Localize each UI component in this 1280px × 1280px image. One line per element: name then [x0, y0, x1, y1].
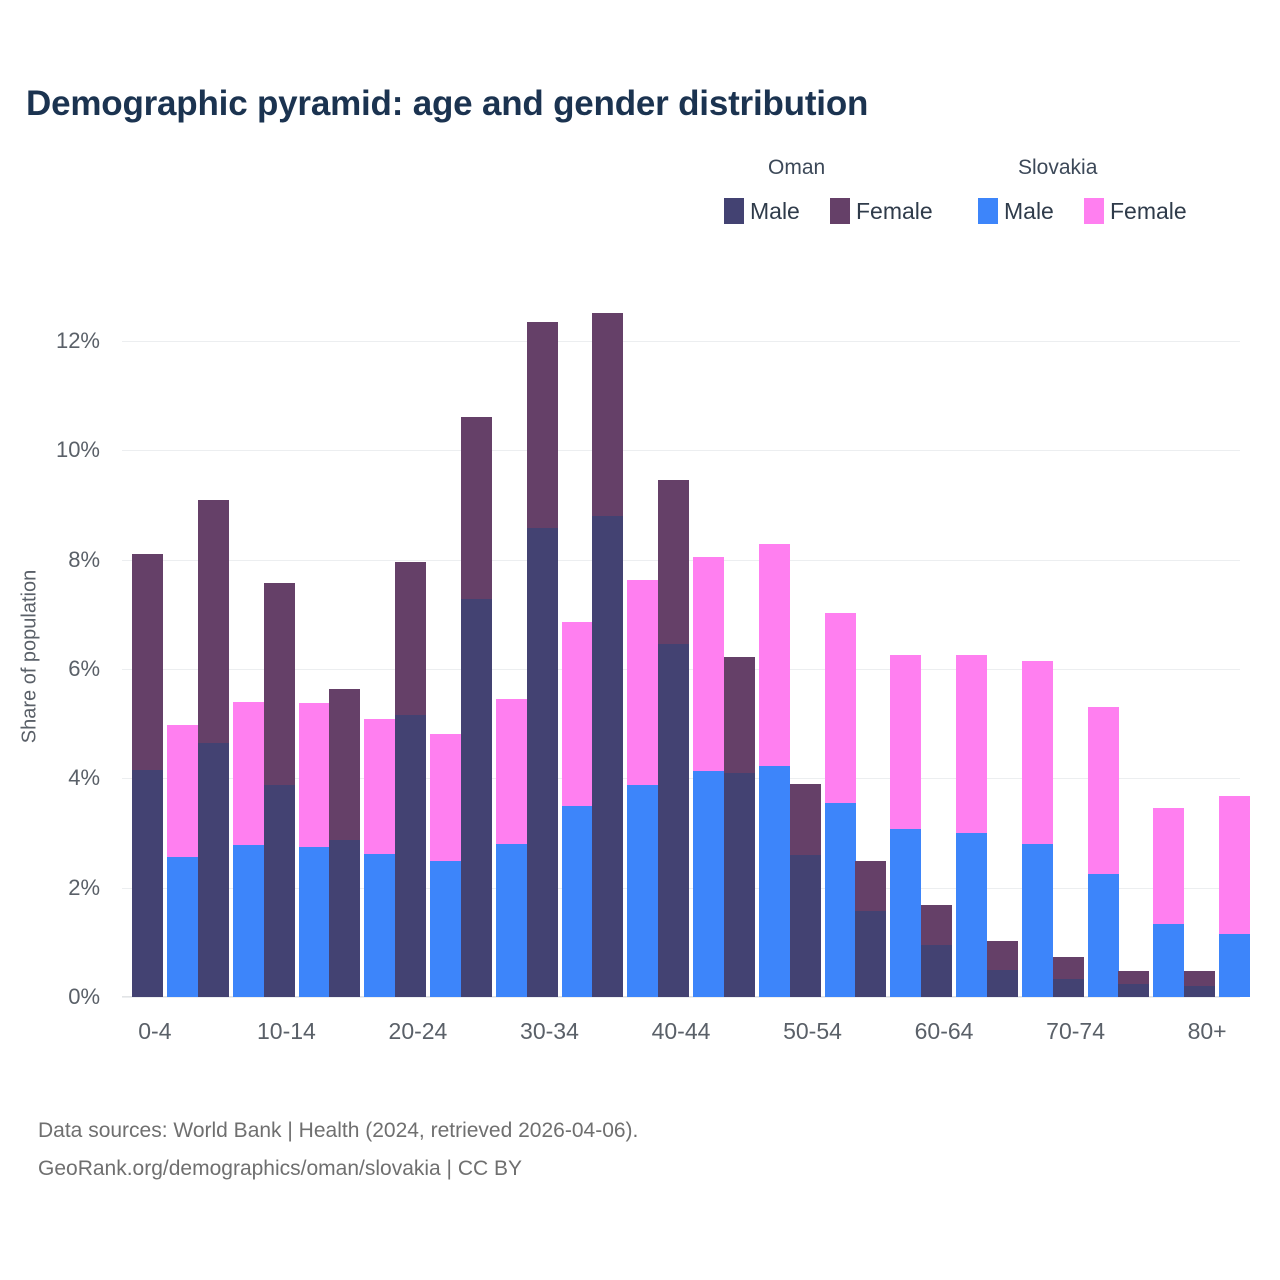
chart-plot: Share of population 0%2%4%6%8%10%12% 0-4…: [0, 0, 1280, 1280]
bar-segment-oman-female[interactable]: [1184, 971, 1215, 986]
bar-oman[interactable]: [461, 417, 492, 997]
bar-group: [845, 297, 911, 997]
bar-group: [582, 297, 648, 997]
bar-group: [780, 297, 846, 997]
x-axis-tick-label: 40-44: [652, 1018, 711, 1045]
bar-oman[interactable]: [855, 861, 886, 997]
bar-group: [911, 297, 977, 997]
x-axis-tick-label: 70-74: [1046, 1018, 1105, 1045]
bar-oman[interactable]: [987, 941, 1018, 997]
bar-segment-oman-female[interactable]: [921, 905, 952, 945]
bar-group: [1174, 297, 1240, 997]
bar-group: [1043, 297, 1109, 997]
bar-group: [714, 297, 780, 997]
bar-segment-oman-male[interactable]: [592, 516, 623, 997]
bar-group: [451, 297, 517, 997]
bar-segment-oman-male[interactable]: [855, 911, 886, 997]
bar-oman[interactable]: [658, 480, 689, 997]
bar-segment-oman-female[interactable]: [527, 322, 558, 528]
bar-oman[interactable]: [790, 784, 821, 997]
y-axis-tick-label: 6%: [68, 656, 100, 682]
bar-oman[interactable]: [1184, 971, 1215, 997]
bar-group: [385, 297, 451, 997]
bar-segment-oman-male[interactable]: [724, 773, 755, 997]
bar-segment-oman-male[interactable]: [921, 945, 952, 997]
bar-oman[interactable]: [1053, 957, 1084, 997]
bar-segment-oman-male[interactable]: [461, 599, 492, 997]
bar-segment-oman-male[interactable]: [198, 743, 229, 997]
bar-segment-oman-female[interactable]: [658, 480, 689, 644]
bar-segment-oman-female[interactable]: [329, 689, 360, 839]
bar-segment-oman-male[interactable]: [790, 855, 821, 997]
bar-segment-oman-female[interactable]: [592, 313, 623, 515]
footer-line-sources: Data sources: World Bank | Health (2024,…: [38, 1112, 638, 1150]
bar-oman[interactable]: [592, 313, 623, 997]
bar-segment-oman-male[interactable]: [1053, 979, 1084, 997]
bar-segment-oman-female[interactable]: [264, 583, 295, 785]
x-axis-tick-label: 60-64: [915, 1018, 974, 1045]
y-axis-tick-label: 12%: [56, 328, 100, 354]
y-axis-tick-label: 8%: [68, 547, 100, 573]
y-axis-tick-label: 2%: [68, 875, 100, 901]
plot-area: [122, 297, 1240, 997]
bar-segment-oman-male[interactable]: [132, 770, 163, 997]
gridline: [122, 997, 1240, 998]
x-axis-tick-label: 10-14: [257, 1018, 316, 1045]
bar-segment-oman-female[interactable]: [1053, 957, 1084, 979]
x-axis-tick-labels: 0-410-1420-2430-3440-4450-5460-6470-7480…: [122, 1018, 1240, 1058]
chart-page: Demographic pyramid: age and gender dist…: [0, 0, 1280, 1280]
bar-segment-oman-male[interactable]: [395, 715, 426, 997]
footer: Data sources: World Bank | Health (2024,…: [38, 1112, 638, 1188]
bar-segment-oman-female[interactable]: [1118, 971, 1149, 985]
bar-segment-oman-male[interactable]: [1118, 984, 1149, 997]
bar-segment-oman-female[interactable]: [461, 417, 492, 599]
footer-line-attribution[interactable]: GeoRank.org/demographics/oman/slovakia |…: [38, 1150, 638, 1188]
bar-oman[interactable]: [1118, 971, 1149, 997]
bar-group: [648, 297, 714, 997]
bar-segment-oman-male[interactable]: [658, 644, 689, 997]
y-axis-tick-label: 4%: [68, 765, 100, 791]
bar-oman[interactable]: [329, 689, 360, 997]
bar-slovakia[interactable]: [1219, 796, 1250, 997]
x-axis-tick-label: 50-54: [783, 1018, 842, 1045]
bar-segment-oman-male[interactable]: [264, 785, 295, 997]
bar-segment-oman-male[interactable]: [987, 970, 1018, 997]
bar-segment-oman-male[interactable]: [527, 528, 558, 997]
bar-group: [319, 297, 385, 997]
bar-group: [254, 297, 320, 997]
bar-oman[interactable]: [921, 905, 952, 997]
bar-oman[interactable]: [527, 322, 558, 997]
bar-segment-oman-female[interactable]: [724, 657, 755, 773]
y-axis-tick-label: 10%: [56, 437, 100, 463]
x-axis-tick-label: 20-24: [389, 1018, 448, 1045]
bar-group: [1108, 297, 1174, 997]
bar-oman[interactable]: [198, 500, 229, 997]
bar-oman[interactable]: [724, 657, 755, 997]
bar-group: [517, 297, 583, 997]
bar-segment-oman-male[interactable]: [1184, 986, 1215, 997]
y-axis-tick-label: 0%: [68, 984, 100, 1010]
bar-segment-slovakia-female[interactable]: [1219, 796, 1250, 934]
bar-segment-oman-female[interactable]: [987, 941, 1018, 969]
bar-oman[interactable]: [132, 554, 163, 997]
bar-segment-oman-female[interactable]: [198, 500, 229, 742]
bar-segment-oman-female[interactable]: [395, 562, 426, 715]
bar-group: [122, 297, 188, 997]
bar-segment-oman-female[interactable]: [855, 861, 886, 910]
bar-segment-oman-female[interactable]: [790, 784, 821, 855]
x-axis-tick-label: 30-34: [520, 1018, 579, 1045]
y-axis-tick-labels: 0%2%4%6%8%10%12%: [0, 297, 108, 997]
bar-oman[interactable]: [395, 562, 426, 997]
x-axis-tick-label: 0-4: [138, 1018, 171, 1045]
bar-segment-oman-male[interactable]: [329, 840, 360, 998]
x-axis-tick-label: 80+: [1188, 1018, 1227, 1045]
bar-oman[interactable]: [264, 583, 295, 997]
bar-group: [977, 297, 1043, 997]
bar-segment-slovakia-male[interactable]: [1219, 934, 1250, 997]
bar-group: [188, 297, 254, 997]
bar-segment-oman-female[interactable]: [132, 554, 163, 770]
